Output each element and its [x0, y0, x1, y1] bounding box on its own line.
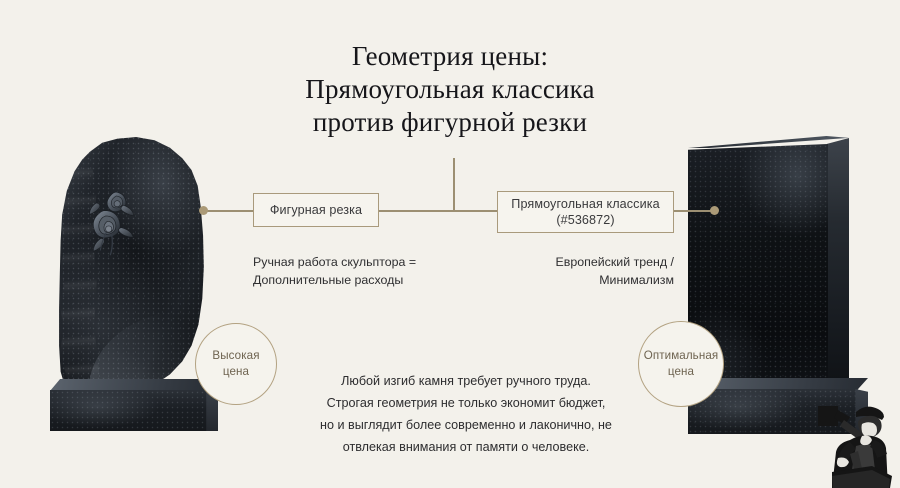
carved-roses-relief: [81, 160, 158, 286]
stonemason-logo: [816, 396, 892, 488]
slab-side-face: [827, 138, 849, 406]
page-title: Геометрия цены: Прямоугольная классика п…: [0, 40, 900, 139]
slide-canvas: Геометрия цены: Прямоугольная классика п…: [0, 0, 900, 488]
badge-optimal-price[interactable]: Оптимальная цена: [638, 321, 724, 407]
monument-base-figured: [50, 379, 218, 431]
tag-figured-carving[interactable]: Фигурная резка: [253, 193, 379, 227]
badge-high-price[interactable]: Высокая цена: [195, 323, 277, 405]
tag-rectangular-classic[interactable]: Прямоугольная классика (#536872): [497, 191, 674, 233]
base-front-face: [50, 390, 208, 431]
body-paragraph: Любой изгиб камня требует ручного труда.…: [318, 370, 614, 458]
connector-line-middle: [378, 210, 498, 212]
monument-slab-figured: [56, 136, 210, 398]
figured-carved-monument: [48, 136, 218, 431]
connector-line-vertical: [453, 158, 455, 211]
base-grain-texture: [50, 390, 208, 431]
note-european-minimalism: Европейский тренд / Минимализм: [450, 253, 674, 289]
